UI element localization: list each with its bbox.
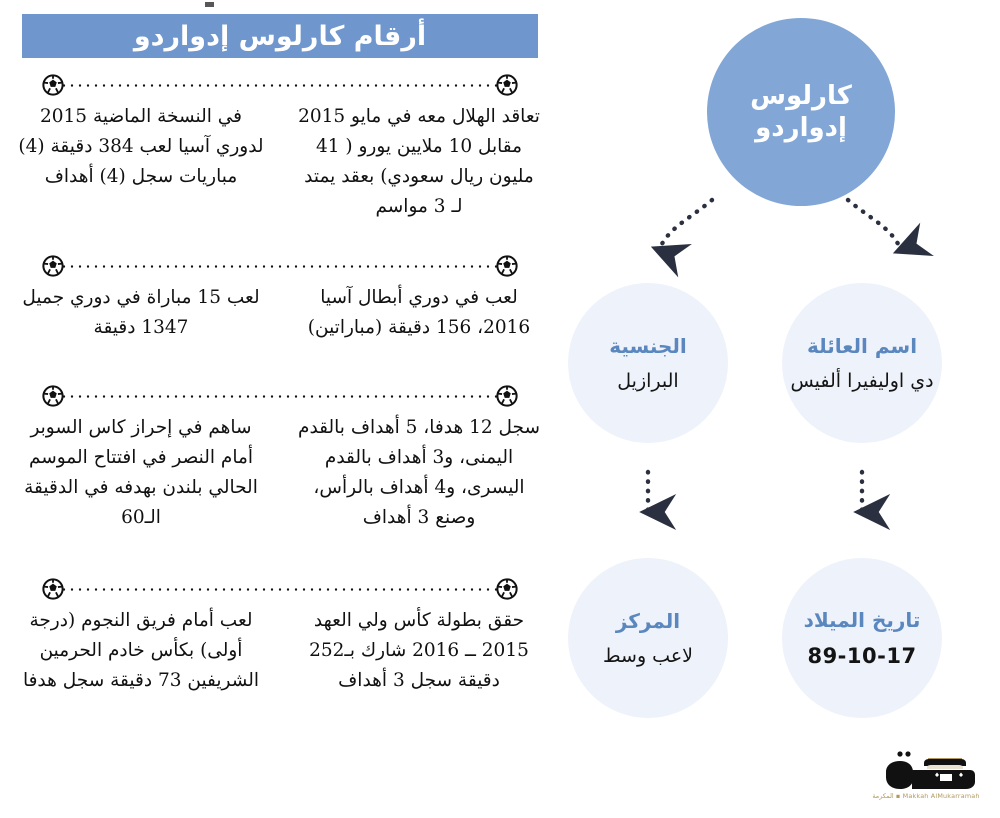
position-circle: المركز لاعب وسط (568, 558, 728, 718)
stat-row: حقق بطولة كأس ولي العهد 2015 ــ 2016 شار… (18, 578, 542, 696)
row-connector (18, 578, 542, 600)
dotted-line (52, 84, 508, 87)
player-name: كارلوس إدواردو (707, 80, 895, 145)
position-label: المركز (616, 609, 680, 633)
soccer-ball-icon (42, 578, 64, 600)
makkah-wordmark-icon (866, 748, 986, 796)
stat-text-left: في النسخة الماضية 2015 لدوري آسيا لعب 38… (18, 102, 264, 222)
arrow-main-to-nationality (659, 200, 712, 250)
birth-date-label: تاريخ الميلاد (804, 608, 921, 632)
dotted-line (52, 588, 508, 591)
soccer-ball-icon (42, 74, 64, 96)
birth-date-circle: تاريخ الميلاد 89-10-17 (782, 558, 942, 718)
soccer-ball-icon (496, 578, 518, 600)
row-connector (18, 74, 542, 96)
row-connector (18, 255, 542, 277)
soccer-ball-icon (496, 385, 518, 407)
row-connector (18, 385, 542, 407)
stat-text-right: لعب في دوري أبطال آسيا 2016، 156 دقيقة (… (296, 283, 542, 343)
player-name-circle: كارلوس إدواردو (707, 18, 895, 206)
stat-row: سجل 12 هدفا، 5 أهداف بالقدم اليمنى، و3 أ… (18, 385, 542, 533)
profile-panel: كارلوس إدواردو الجنسية البرازيل اسم العا… (560, 0, 1000, 818)
nationality-label: الجنسية (609, 334, 687, 358)
soccer-ball-icon (42, 385, 64, 407)
stat-row: لعب في دوري أبطال آسيا 2016، 156 دقيقة (… (18, 255, 542, 343)
soccer-ball-icon (42, 255, 64, 277)
page-title-bar: أرقام كارلوس إدواردو (22, 14, 538, 58)
family-name-label: اسم العائلة (807, 334, 917, 358)
stat-text-left: لعب 15 مباراة في دوري جميل 1347 دقيقة (18, 283, 264, 343)
stat-text-right: سجل 12 هدفا، 5 أهداف بالقدم اليمنى، و3 أ… (296, 413, 542, 533)
infographic-canvas: أرقام كارلوس إدواردو تعاقد الهلال معه في… (0, 0, 1000, 818)
stat-text-left: لعب أمام فريق النجوم (درجة أولى) بكأس خا… (18, 606, 264, 696)
logo-caption: Makkah AlMukarramah ▪ المكرمة (866, 792, 986, 800)
soccer-ball-icon (496, 74, 518, 96)
stat-row: تعاقد الهلال معه في مايو 2015 مقابل 10 م… (18, 74, 542, 222)
family-name-circle: اسم العائلة دي اوليفيرا ألفيس (782, 283, 942, 443)
stat-text-right: حقق بطولة كأس ولي العهد 2015 ــ 2016 شار… (296, 606, 542, 696)
stat-text-left: ساهم في إحراز كاس السوبر أمام النصر في ا… (18, 413, 264, 533)
stats-panel: أرقام كارلوس إدواردو تعاقد الهلال معه في… (0, 0, 560, 818)
soccer-ball-icon (496, 255, 518, 277)
birth-date-value: 89-10-17 (807, 644, 916, 668)
position-value: لاعب وسط (603, 645, 693, 667)
makkah-logo: Makkah AlMukarramah ▪ المكرمة (866, 748, 986, 810)
family-name-value: دي اوليفيرا ألفيس (790, 370, 933, 392)
dotted-line (52, 395, 508, 398)
arrow-main-to-familyname (848, 200, 901, 250)
nationality-value: البرازيل (617, 370, 678, 392)
dotted-line (52, 265, 508, 268)
stat-text-right: تعاقد الهلال معه في مايو 2015 مقابل 10 م… (296, 102, 542, 222)
nationality-circle: الجنسية البرازيل (568, 283, 728, 443)
page-title: أرقام كارلوس إدواردو (134, 23, 426, 50)
